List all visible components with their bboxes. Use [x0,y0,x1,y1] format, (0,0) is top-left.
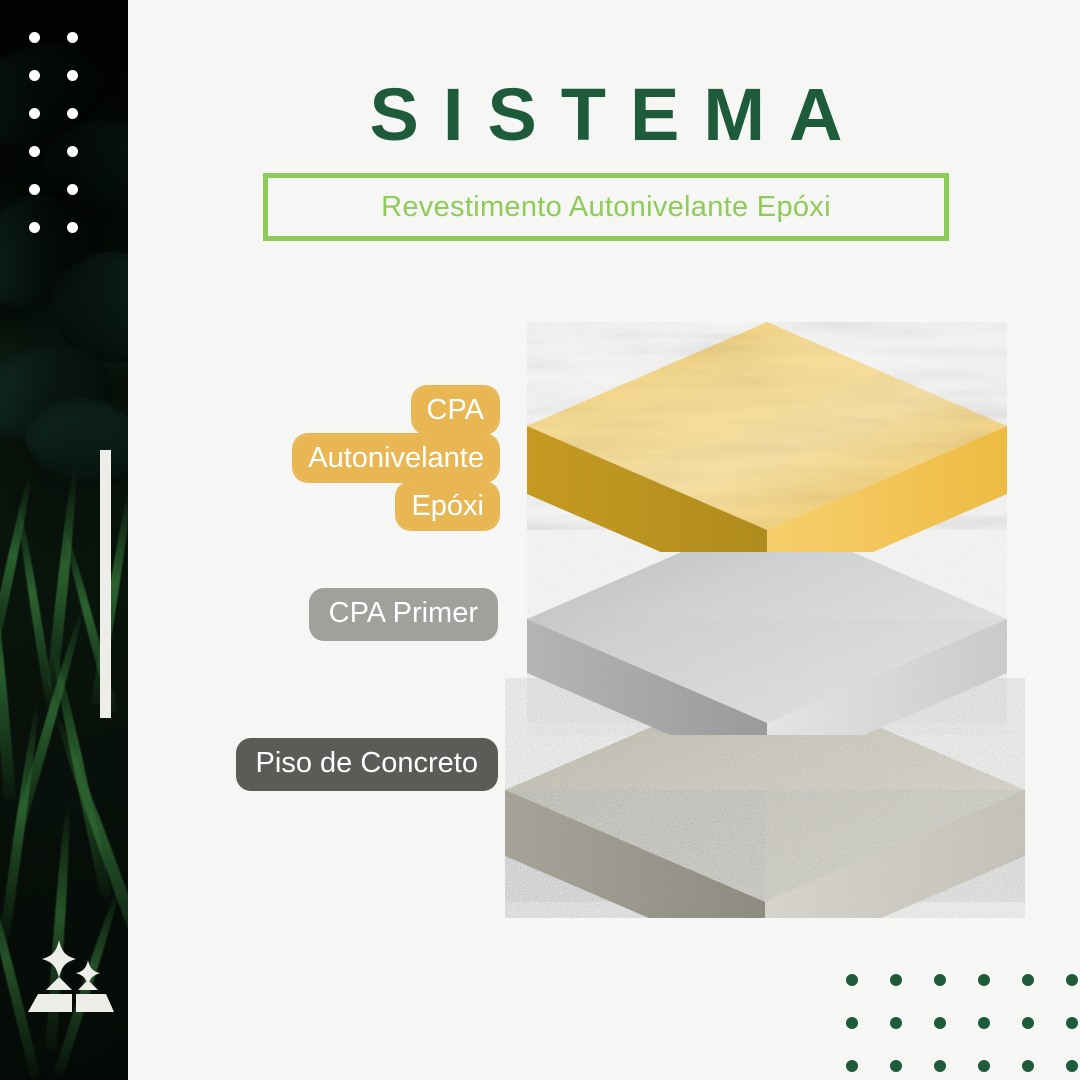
dot [67,108,78,119]
dot [890,974,902,986]
dot [1022,1060,1034,1072]
dot [67,146,78,157]
dot [1066,1017,1078,1029]
dot [978,974,990,986]
label-primer: CPA Primer [309,588,498,641]
dot [846,1060,858,1072]
dot [1022,974,1034,986]
dot [846,1017,858,1029]
dot [934,974,946,986]
poster-canvas: SISTEMA Revestimento Autonivelante Epóxi [0,0,1080,1080]
dot [29,32,40,43]
slab-epoxy [527,322,1007,552]
sidebar [0,0,128,1080]
decorative-dot-grid [846,974,1080,1080]
dot [890,1060,902,1072]
dot [67,70,78,81]
sidebar-dot-grid [29,32,105,260]
dot [29,70,40,81]
label-epoxy-text: CPAAutonivelanteEpóxi [294,387,498,529]
dot [29,146,40,157]
subtitle-text: Revestimento Autonivelante Epóxi [381,191,831,224]
dot [846,974,858,986]
page-title: SISTEMA [263,78,949,152]
dot [1022,1017,1034,1029]
dot [934,1060,946,1072]
brand-logo-icon [28,938,114,1014]
dot [29,184,40,195]
dot [1066,1060,1078,1072]
subtitle-box: Revestimento Autonivelante Epóxi [263,173,949,241]
dot [890,1017,902,1029]
dot [978,1060,990,1072]
dot [978,1017,990,1029]
label-concrete: Piso de Concreto [236,738,498,791]
dot [67,222,78,233]
dot [67,184,78,195]
dot [1066,974,1078,986]
dot [29,222,40,233]
dot [934,1017,946,1029]
dot [67,32,78,43]
sidebar-accent-bar [100,450,111,718]
dot [29,108,40,119]
label-primer-text: CPA Primer [329,597,478,630]
label-concrete-text: Piso de Concreto [256,747,478,780]
label-epoxy: CPAAutonivelanteEpóxi [294,386,498,530]
layer-stack-diagram [505,300,1025,950]
